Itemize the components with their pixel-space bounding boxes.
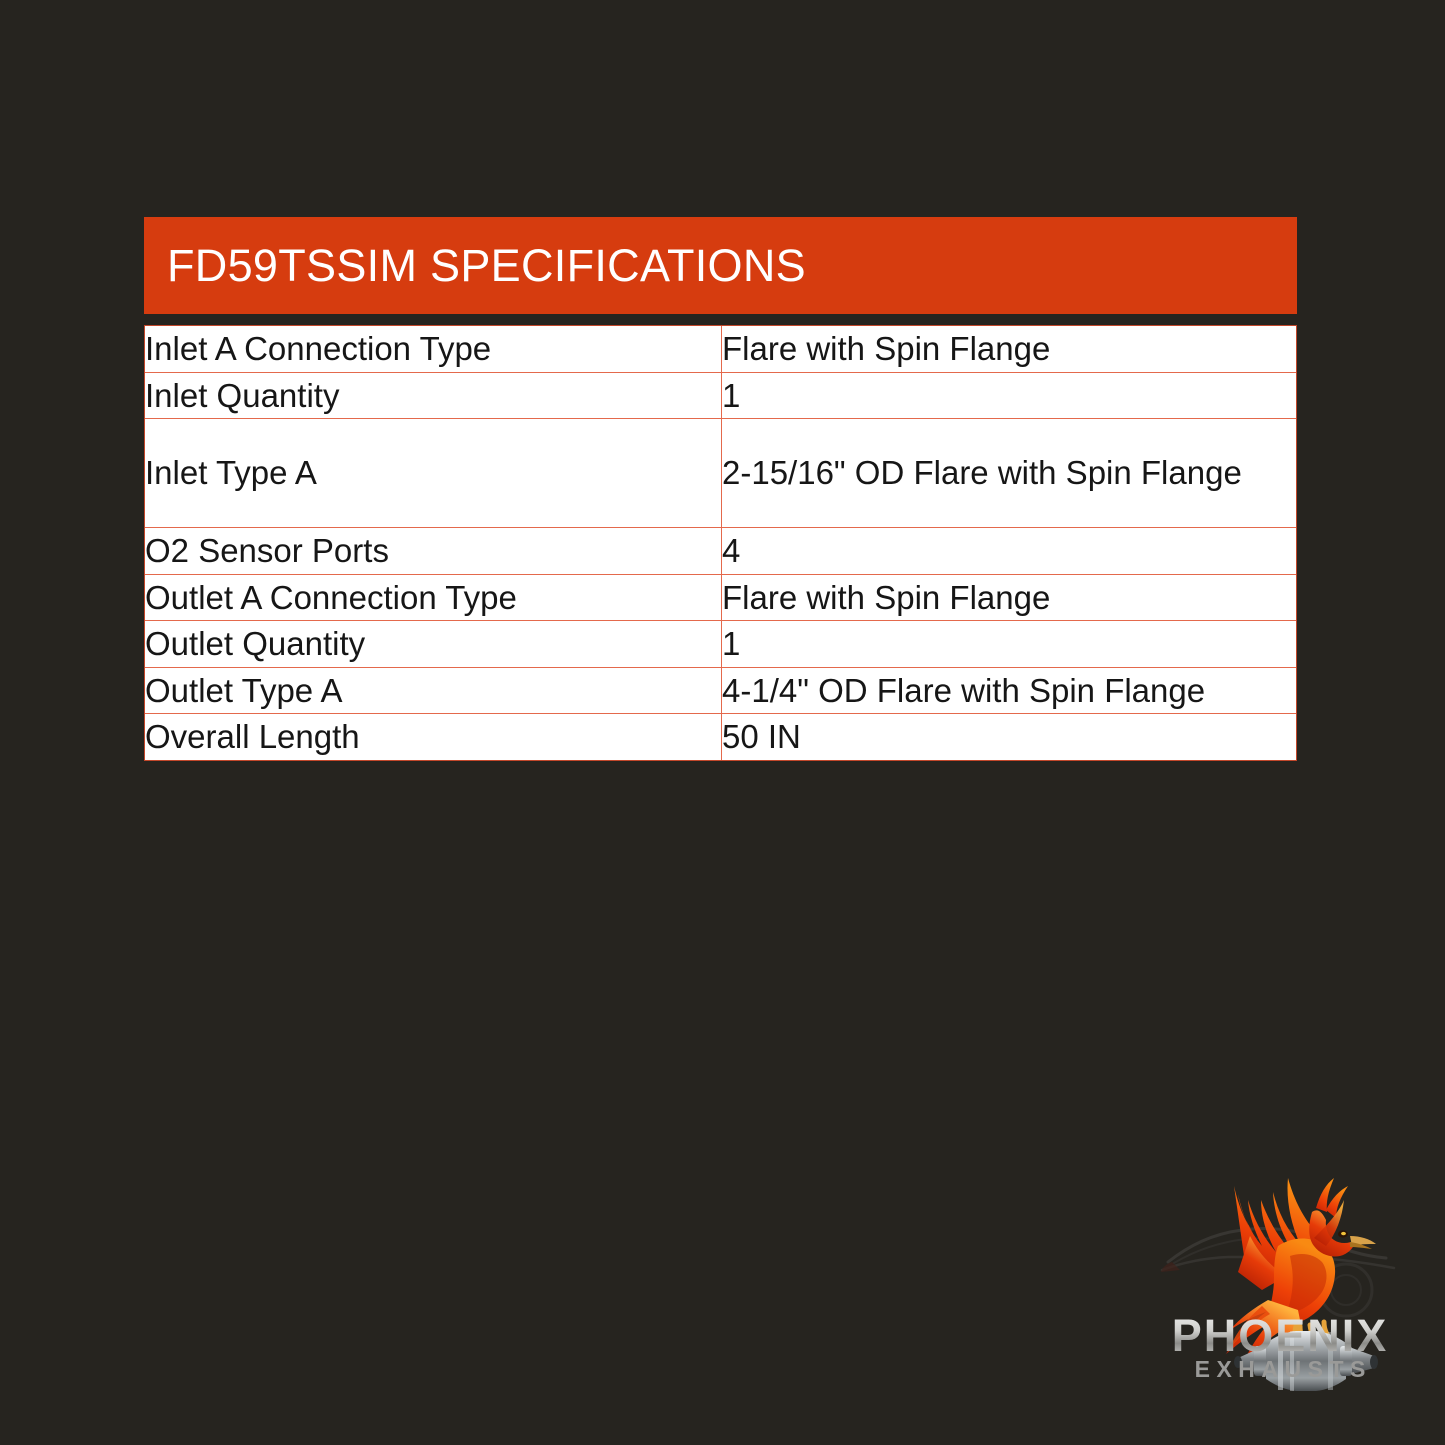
spec-label-cell: Outlet Type A [145,667,722,714]
spec-label-cell: O2 Sensor Ports [145,528,722,575]
spec-value-cell: 4-1/4" OD Flare with Spin Flange [722,667,1297,714]
table-row: Inlet A Connection Type Flare with Spin … [145,326,1296,372]
spec-label-cell: Outlet A Connection Type [145,574,722,621]
spec-value-cell: 1 [722,372,1297,419]
table-row: Outlet Quantity 1 [145,621,1296,668]
page-root: FD59TSSIM SPECIFICATIONS Inlet A Connect… [0,0,1445,1445]
page-title: FD59TSSIM SPECIFICATIONS [167,243,806,288]
spec-value-cell: Flare with Spin Flange [722,574,1297,621]
table-row: Overall Length 50 IN [145,714,1296,760]
phoenix-exhausts-logo: PHOENIX EXHAUSTS [1150,1150,1410,1410]
specifications-card: FD59TSSIM SPECIFICATIONS Inlet A Connect… [144,217,1297,761]
logo-brand-secondary: EXHAUSTS [1150,1356,1410,1383]
spec-value-cell: 4 [722,528,1297,575]
specifications-table-container: Inlet A Connection Type Flare with Spin … [144,325,1297,761]
table-row: Outlet Type A 4-1/4" OD Flare with Spin … [145,667,1296,714]
spec-label-cell: Inlet Type A [145,419,722,528]
spec-value-cell: 2-15/16" OD Flare with Spin Flange [722,419,1297,528]
table-row: Inlet Type A 2-15/16" OD Flare with Spin… [145,419,1296,528]
table-row: Outlet A Connection Type Flare with Spin… [145,574,1296,621]
spec-value-cell: 50 IN [722,714,1297,760]
spec-label-cell: Overall Length [145,714,722,760]
specifications-header-band: FD59TSSIM SPECIFICATIONS [144,217,1297,314]
table-row: Inlet Quantity 1 [145,372,1296,419]
spec-value-cell: Flare with Spin Flange [722,326,1297,372]
spec-label-cell: Outlet Quantity [145,621,722,668]
spec-label-cell: Inlet A Connection Type [145,326,722,372]
spec-value-cell: 1 [722,621,1297,668]
specifications-table-body: Inlet A Connection Type Flare with Spin … [145,326,1296,760]
logo-brand-primary: PHOENIX [1150,1310,1410,1362]
table-row: O2 Sensor Ports 4 [145,528,1296,575]
spec-label-cell: Inlet Quantity [145,372,722,419]
specifications-table: Inlet A Connection Type Flare with Spin … [145,326,1296,760]
